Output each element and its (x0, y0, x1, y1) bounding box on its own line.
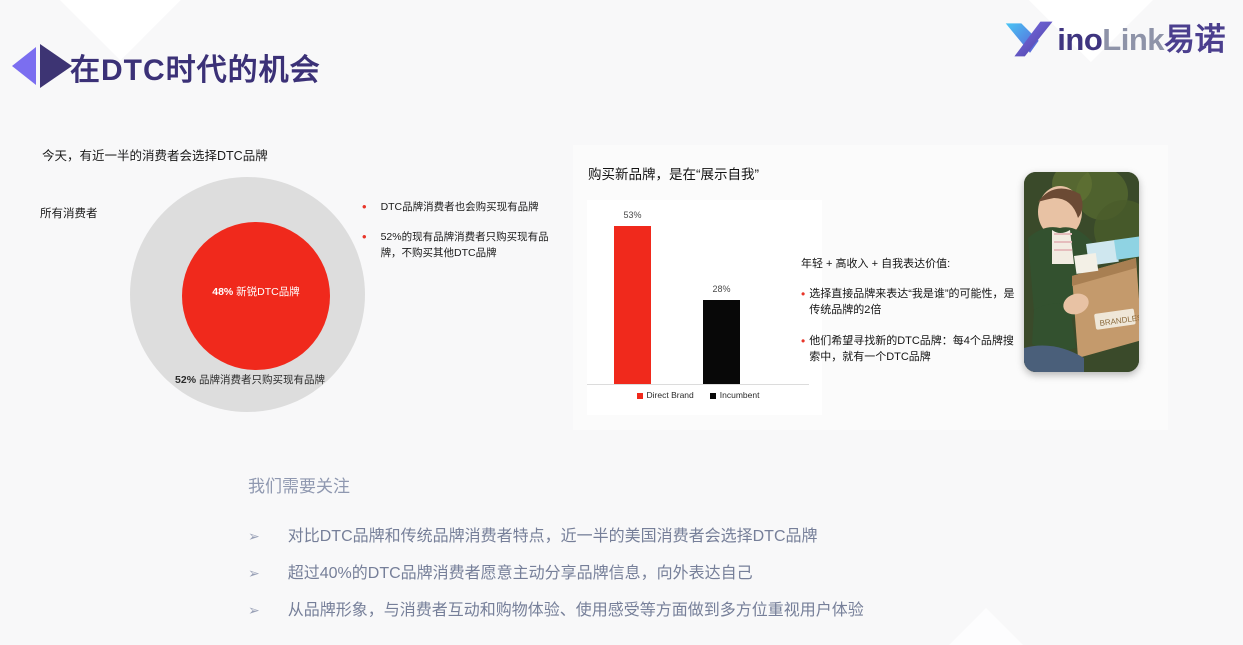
photo-illustration: BRANDLESS (1024, 172, 1139, 372)
brandless-photo: BRANDLESS (1024, 172, 1139, 372)
list-item-text: 超过40%的DTC品牌消费者愿意主动分享品牌信息，向外表达自己 (288, 564, 753, 585)
logo-text-link: Link (1102, 22, 1164, 57)
bar-value-label: 53% (598, 210, 667, 220)
venn-outer-label: 52% 品牌消费者只购买现有品牌 (95, 372, 405, 387)
bar-chart-plot: 53% 28% (587, 206, 822, 384)
bar-column (614, 226, 651, 384)
bullet-dot-icon: • (801, 287, 805, 319)
list-item: ➢ 从品牌形象，与消费者互动和购物体验、使用感受等方面做到多方位重视用户体验 (248, 601, 1048, 622)
logo-wordmark: inoLink易诺 (1057, 24, 1225, 55)
bottom-section: 我们需要关注 ➢ 对比DTC品牌和传统品牌消费者特点，近一半的美国消费者会选择D… (248, 472, 1048, 637)
list-item-text: 从品牌形象，与消费者互动和购物体验、使用感受等方面做到多方位重视用户体验 (288, 601, 864, 622)
list-item: ➢ 对比DTC品牌和传统品牌消费者特点，近一半的美国消费者会选择DTC品牌 (248, 527, 1048, 548)
bottom-heading: 我们需要关注 (248, 472, 1048, 497)
brand-logo: inoLink易诺 (1004, 16, 1225, 62)
title-arrows (12, 44, 74, 88)
arrow-bullet-icon: ➢ (248, 527, 260, 546)
triangle-left-icon (12, 47, 36, 85)
list-item: ➢ 超过40%的DTC品牌消费者愿意主动分享品牌信息，向外表达自己 (248, 564, 1048, 585)
venn-outer-text: 品牌消费者只购买现有品牌 (199, 374, 325, 386)
arrow-bullet-icon: ➢ (248, 601, 260, 620)
list-item-text: 他们希望寻找新的DTC品牌：每4个品牌搜索中，就有一个DTC品牌 (809, 334, 1023, 366)
list-item: • 他们希望寻找新的DTC品牌：每4个品牌搜索中，就有一个DTC品牌 (801, 334, 1023, 366)
chart-axis-line (587, 384, 809, 385)
list-item-text: 52%的现有品牌消费者只购买现有品牌，不购买其他DTC品牌 (381, 230, 562, 262)
venn-outer-pct: 52% (175, 374, 196, 386)
page-title: 在DTC时代的机会 (70, 45, 321, 89)
legend-label: Direct Brand (647, 390, 694, 400)
list-item-text: 对比DTC品牌和传统品牌消费者特点，近一半的美国消费者会选择DTC品牌 (288, 527, 818, 548)
venn-inner-pct: 48% (212, 286, 233, 298)
left-bullet-list: • DTC品牌消费者也会购买现有品牌 • 52%的现有品牌消费者只购买现有品牌，… (362, 200, 562, 275)
venn-inner-label: 48% 新锐DTC品牌 (182, 284, 330, 299)
list-item-text: 选择直接品牌来表达“我是谁”的可能性，是传统品牌的2倍 (809, 287, 1023, 319)
right-bullets-heading: 年轻 + 高收入 + 自我表达价值: (801, 255, 1023, 271)
list-item: • 选择直接品牌来表达“我是谁”的可能性，是传统品牌的2倍 (801, 287, 1023, 319)
slide-header: 在DTC时代的机会 inoLink易诺 (0, 0, 1243, 118)
legend-item-direct-brand: Direct Brand (637, 390, 694, 400)
right-bullet-list: 年轻 + 高收入 + 自我表达价值: • 选择直接品牌来表达“我是谁”的可能性，… (801, 255, 1023, 381)
left-heading: 今天，有近一半的消费者会选择DTC品牌 (42, 145, 560, 164)
right-panel-title: 购买新品牌，是在“展示自我” (588, 163, 759, 183)
bar-incumbent: 28% (703, 300, 740, 384)
list-item-text: DTC品牌消费者也会购买现有品牌 (381, 200, 539, 216)
logo-text-cn: 易诺 (1164, 22, 1225, 57)
bar-value-label: 28% (687, 284, 756, 294)
legend-label: Incumbent (720, 390, 760, 400)
bullet-dot-icon: • (362, 200, 367, 216)
legend-swatch-icon (710, 393, 716, 399)
yino-y-mark-icon (1004, 18, 1056, 60)
slide-canvas: 在DTC时代的机会 inoLink易诺 今天，有近一半的消费者会选 (0, 0, 1243, 645)
bar-column (703, 300, 740, 384)
bar-chart: 53% 28% Direct Brand Incumbent (587, 200, 822, 415)
chart-legend: Direct Brand Incumbent (587, 390, 809, 400)
list-item: • DTC品牌消费者也会购买现有品牌 (362, 200, 562, 216)
venn-inner-text: 新锐DTC品牌 (236, 286, 300, 298)
arrow-bullet-icon: ➢ (248, 564, 260, 583)
triangle-right-icon (40, 44, 72, 88)
bar-direct-brand: 53% (614, 226, 651, 384)
all-consumers-label: 所有消费者 (40, 205, 98, 221)
logo-text-ino: ino (1057, 22, 1102, 57)
legend-swatch-icon (637, 393, 643, 399)
list-item: • 52%的现有品牌消费者只购买现有品牌，不购买其他DTC品牌 (362, 230, 562, 262)
legend-item-incumbent: Incumbent (710, 390, 760, 400)
bullet-dot-icon: • (801, 334, 805, 366)
venn-diagram: 48% 新锐DTC品牌 52% 品牌消费者只购买现有品牌 (95, 177, 370, 412)
left-section: 今天，有近一半的消费者会选择DTC品牌 所有消费者 48% 新锐DTC品牌 52… (40, 145, 560, 186)
bullet-dot-icon: • (362, 230, 367, 262)
